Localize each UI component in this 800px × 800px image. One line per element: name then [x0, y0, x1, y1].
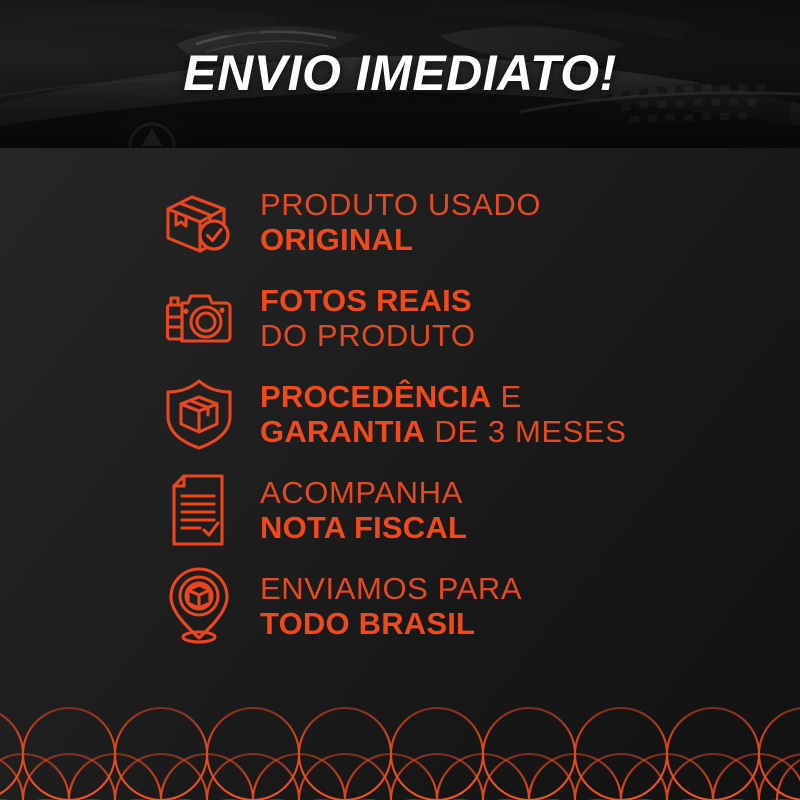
shield-box-icon	[160, 375, 238, 453]
feature-line-1-text: PRODUTO USADO	[260, 187, 541, 222]
feature-line-1-light: E	[491, 379, 522, 414]
feature-line-2-light: DE 3 MESES	[425, 414, 626, 449]
feature-line-1: ACOMPANHA	[260, 475, 467, 510]
feature-line-1-text: FOTOS REAIS	[260, 283, 472, 318]
feature-text: FOTOS REAIS DO PRODUTO	[260, 283, 476, 353]
feature-line-1-text: ACOMPANHA	[260, 475, 463, 510]
feature-text: ACOMPANHA NOTA FISCAL	[260, 475, 467, 545]
feature-line-2-text: NOTA FISCAL	[260, 510, 467, 545]
location-pin-box-icon	[160, 567, 238, 645]
feature-list: PRODUTO USADO ORIGINAL	[0, 174, 800, 654]
feature-item-todo-brasil: ENVIAMOS PARA TODO BRASIL	[0, 558, 800, 654]
feature-line-2-text: ORIGINAL	[260, 222, 413, 257]
feature-line-2-bold: GARANTIA	[260, 414, 425, 449]
promo-banner: ENVIO IMEDIATO!	[0, 0, 800, 800]
feature-text: ENVIAMOS PARA TODO BRASIL	[260, 571, 522, 641]
feature-item-produto-usado: PRODUTO USADO ORIGINAL	[0, 174, 800, 270]
overlapping-circles-pattern	[0, 688, 800, 800]
feature-line-2: ORIGINAL	[260, 222, 541, 257]
feature-line-2-text: DO PRODUTO	[260, 318, 476, 353]
feature-line-2-text: TODO BRASIL	[260, 606, 475, 641]
feature-text: PROCEDÊNCIA E GARANTIA DE 3 MESES	[260, 379, 626, 449]
invoice-check-icon	[160, 471, 238, 549]
camera-icon	[160, 279, 238, 357]
feature-line-2: NOTA FISCAL	[260, 510, 467, 545]
feature-line-1: PRODUTO USADO	[260, 187, 541, 222]
feature-line-1: PROCEDÊNCIA E	[260, 379, 626, 414]
feature-line-1-text: ENVIAMOS PARA	[260, 571, 522, 606]
feature-item-nota-fiscal: ACOMPANHA NOTA FISCAL	[0, 462, 800, 558]
banner-header: ENVIO IMEDIATO!	[0, 0, 800, 148]
feature-item-procedencia-garantia: PROCEDÊNCIA E GARANTIA DE 3 MESES	[0, 366, 800, 462]
feature-line-1: FOTOS REAIS	[260, 283, 476, 318]
page-title: ENVIO IMEDIATO!	[0, 42, 800, 104]
feature-line-1-bold: PROCEDÊNCIA	[260, 379, 491, 414]
box-check-icon	[160, 183, 238, 261]
feature-line-1: ENVIAMOS PARA	[260, 571, 522, 606]
feature-line-2: DO PRODUTO	[260, 318, 476, 353]
feature-line-2: TODO BRASIL	[260, 606, 522, 641]
feature-item-fotos-reais: FOTOS REAIS DO PRODUTO	[0, 270, 800, 366]
feature-text: PRODUTO USADO ORIGINAL	[260, 187, 541, 257]
feature-line-2: GARANTIA DE 3 MESES	[260, 414, 626, 449]
